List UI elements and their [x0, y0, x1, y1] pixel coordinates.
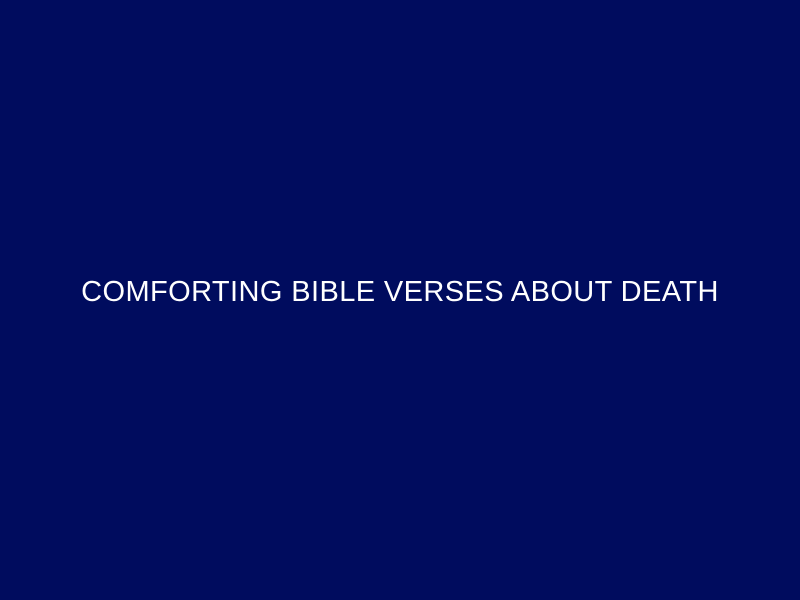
title-card: COMFORTING BIBLE VERSES ABOUT DEATH — [0, 0, 800, 600]
title-block: COMFORTING BIBLE VERSES ABOUT DEATH — [0, 257, 800, 329]
page-title: COMFORTING BIBLE VERSES ABOUT DEATH — [81, 276, 719, 309]
